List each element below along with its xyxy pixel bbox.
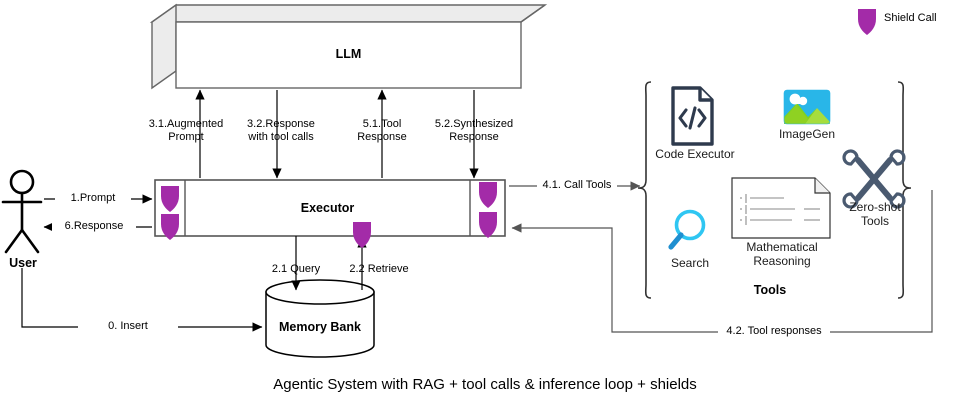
edge-label-synthesized-response: 5.2.Synthesized Response — [425, 118, 523, 144]
diagram-canvas: LLM Executor Memory Bank User Tools 0. I… — [0, 0, 970, 411]
diagram-vector-layer — [0, 0, 970, 411]
tool-label-imagegen: ImageGen — [762, 127, 852, 141]
edge-label-response: 6.Response — [52, 220, 136, 233]
user-label: User — [0, 256, 46, 270]
edge-label-tool-response: 5.1.Tool Response — [341, 118, 423, 144]
edge-label-retrieve: 2.2 Retrieve — [334, 263, 424, 276]
magnifier-icon — [671, 212, 704, 248]
memory-bank-label: Memory Bank — [266, 320, 374, 334]
edge-insert-line — [22, 268, 262, 327]
user-actor — [3, 171, 41, 252]
crossed-wrenches-icon — [844, 151, 904, 207]
diagram-caption: Agentic System with RAG + tool calls & i… — [0, 376, 970, 393]
shield-icon-memory — [353, 222, 371, 248]
tool-label-search: Search — [655, 256, 725, 270]
tool-label-mathematical-reasoning: Mathematical Reasoning — [733, 240, 831, 268]
edge-label-insert: 0. Insert — [78, 320, 178, 333]
executor-label: Executor — [185, 201, 470, 215]
shield-icon-legend — [858, 9, 876, 35]
tool-label-zero-shot-tools: Zero-shot Tools — [838, 200, 912, 228]
image-icon — [784, 90, 830, 124]
edge-label-response-tool-calls: 3.2.Response with tool calls — [231, 118, 331, 144]
edge-label-tool-responses: 4.2. Tool responses — [718, 325, 830, 338]
edge-label-query: 2.1 Query — [256, 263, 336, 276]
tools-group-label: Tools — [710, 283, 830, 297]
code-document-icon — [673, 88, 712, 144]
edge-label-prompt: 1.Prompt — [55, 192, 131, 205]
formula-document-icon — [732, 178, 830, 238]
legend-shield-label: Shield Call — [884, 12, 937, 24]
memory-bank-node — [266, 280, 374, 357]
tool-label-code-executor: Code Executor — [645, 147, 745, 161]
llm-label: LLM — [176, 47, 521, 61]
edge-label-call-tools: 4.1. Call Tools — [537, 179, 617, 192]
edge-label-augmented-prompt: 3.1.Augmented Prompt — [140, 118, 232, 144]
